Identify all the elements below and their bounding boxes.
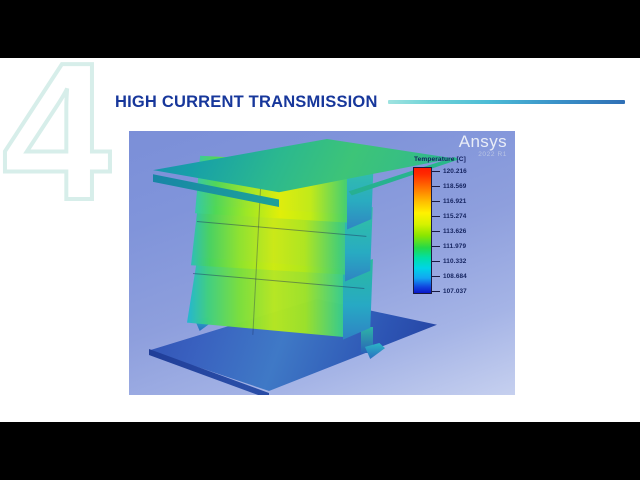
legend-tick-label: 110.332: [443, 258, 466, 265]
section-number: 4: [2, 58, 107, 230]
temperature-legend: Temperature [C] 120.216 118.569: [413, 156, 513, 294]
legend-tick: 113.626: [432, 227, 466, 235]
title-row: HIGH CURRENT TRANSMISSION: [115, 89, 625, 115]
ansys-brand: Ansys 2022 R1: [459, 133, 507, 159]
legend-tick-label: 107.037: [443, 288, 467, 295]
letterbox-bar-bottom: [0, 422, 640, 480]
video-frame: 4 HIGH CURRENT TRANSMISSION: [0, 0, 640, 480]
legend-tick-label: 108.684: [443, 273, 467, 280]
legend-scale: 120.216 118.569 116.921 115.274: [432, 167, 513, 294]
legend-tick-line: [432, 246, 440, 247]
title-rule-decoration: [388, 100, 625, 104]
legend-tick-line: [432, 261, 440, 262]
page-title: HIGH CURRENT TRANSMISSION: [115, 93, 378, 112]
legend-tick-line: [432, 171, 440, 172]
ansys-logo: Ansys: [459, 133, 507, 150]
letterbox-bar-top: [0, 0, 640, 58]
legend-tick-line: [432, 291, 440, 292]
legend-tick: 110.332: [432, 257, 466, 265]
legend-tick-label: 116.921: [443, 198, 466, 205]
legend-tick-line: [432, 201, 440, 202]
legend-tick-label: 118.569: [443, 183, 466, 190]
legend-tick: 118.569: [432, 182, 466, 190]
legend-tick: 111.979: [432, 242, 466, 250]
legend-tick-label: 111.979: [443, 243, 466, 250]
ansys-simulation-image: Ansys 2022 R1 Temperature [C] 120.216 11…: [129, 131, 515, 395]
legend-tick-label: 120.216: [443, 168, 467, 175]
legend-tick-line: [432, 276, 440, 277]
legend-tick: 116.921: [432, 197, 466, 205]
legend-title: Temperature [C]: [413, 156, 513, 163]
temperature-colorbar: [413, 167, 432, 294]
legend-tick-label: 113.626: [443, 228, 466, 235]
legend-tick: 120.216: [432, 167, 467, 175]
legend-tick-line: [432, 186, 440, 187]
legend-tick-line: [432, 216, 440, 217]
legend-tick-line: [432, 231, 440, 232]
legend-tick: 115.274: [432, 212, 466, 220]
legend-body: 120.216 118.569 116.921 115.274: [413, 167, 513, 294]
legend-tick-label: 115.274: [443, 213, 466, 220]
legend-tick: 107.037: [432, 287, 467, 295]
presentation-slide: 4 HIGH CURRENT TRANSMISSION: [0, 58, 640, 422]
legend-tick: 108.684: [432, 272, 467, 280]
